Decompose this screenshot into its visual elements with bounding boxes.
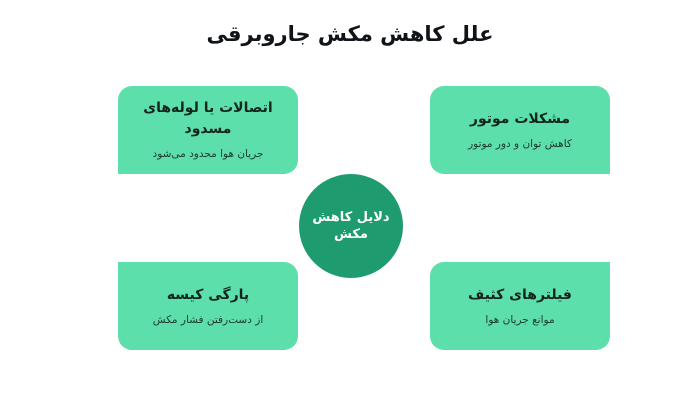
node-card-top-left[interactable]: اتصالات یا لوله‌های مسدود جریان هوا محدو… bbox=[118, 86, 298, 174]
node-subtitle: موانع جریان هوا bbox=[446, 313, 594, 328]
node-title: اتصالات یا لوله‌های مسدود bbox=[134, 98, 282, 140]
center-node-line-1: دلایل کاهش bbox=[312, 209, 389, 226]
node-card-top-right[interactable]: مشکلات موتور کاهش توان و دور موتور bbox=[430, 86, 610, 174]
node-card-bottom-right[interactable]: فیلترهای کثیف موانع جریان هوا bbox=[430, 262, 610, 350]
diagram-canvas: علل کاهش مکش جاروبرقی اتصالات یا لوله‌ها… bbox=[0, 0, 700, 400]
node-subtitle: از دست‌رفتن فشار مکش bbox=[134, 313, 282, 328]
center-node[interactable]: دلایل کاهش مکش bbox=[299, 174, 403, 278]
node-subtitle: کاهش توان و دور موتور bbox=[446, 137, 594, 152]
node-title: فیلترهای کثیف bbox=[446, 285, 594, 306]
node-title-line-1: اتصالات یا لوله‌های bbox=[143, 100, 272, 116]
node-title-line-2: مسدود bbox=[185, 121, 232, 137]
center-node-line-2: مکش bbox=[334, 226, 368, 243]
node-card-bottom-left[interactable]: پارگی کیسه از دست‌رفتن فشار مکش bbox=[118, 262, 298, 350]
page-title: علل کاهش مکش جاروبرقی bbox=[0, 22, 700, 46]
node-subtitle: جریان هوا محدود می‌شود bbox=[134, 147, 282, 162]
node-title: مشکلات موتور bbox=[446, 109, 594, 130]
node-title: پارگی کیسه bbox=[134, 285, 282, 306]
